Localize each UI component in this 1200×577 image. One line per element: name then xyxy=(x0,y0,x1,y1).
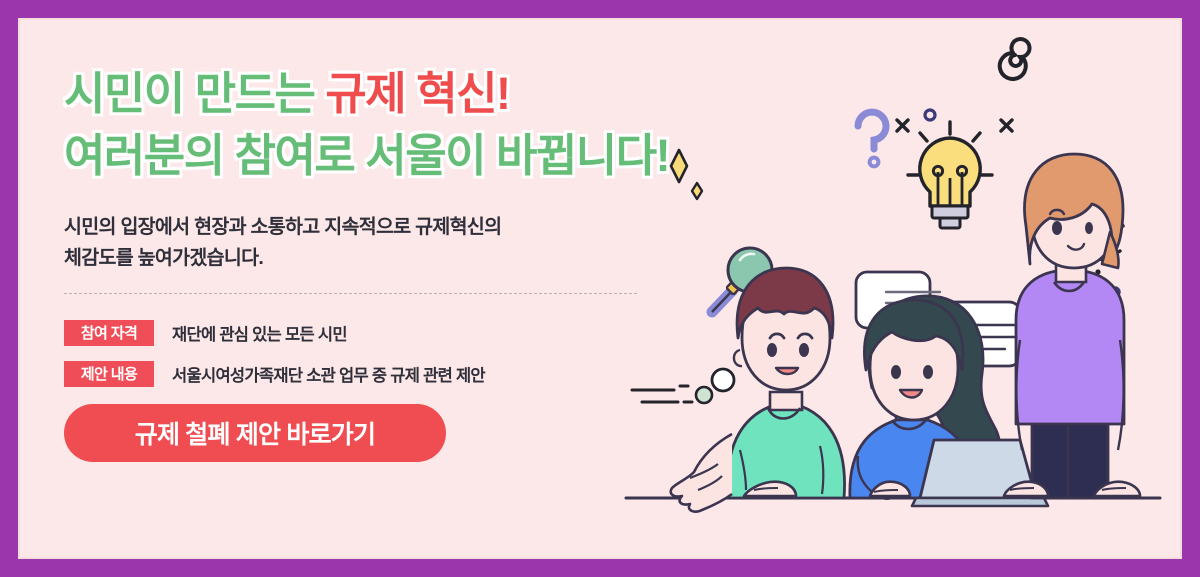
x-spark-icon xyxy=(897,120,1012,131)
subtext-line-2: 체감도를 높여가겠습니다. xyxy=(64,243,684,275)
dashed-divider xyxy=(64,293,637,294)
info-rows: 참여 자격 재단에 관심 있는 모든 시민 제안 내용 서울시여성가족재단 소관… xyxy=(64,320,684,387)
info-row: 제안 내용 서울시여성가족재단 소관 업무 중 규제 관련 제안 xyxy=(64,361,684,387)
subtext-line-1: 시민의 입장에서 현장과 소통하고 지속적으로 규제혁신의 xyxy=(64,212,684,244)
info-row: 참여 자격 재단에 관심 있는 모든 시민 xyxy=(64,320,684,346)
spiral-icon xyxy=(1000,39,1030,79)
headline-line-1-red: 규제 혁신! xyxy=(325,68,509,119)
info-text-qualification: 재단에 관심 있는 모든 시민 xyxy=(172,321,347,345)
banner-inner-frame: .ln{fill:none;stroke:#3b3550;stroke-widt… xyxy=(18,18,1182,559)
info-badge-qualification: 참여 자격 xyxy=(64,320,154,346)
info-text-proposal: 서울시여성가족재단 소관 업무 중 규제 관련 제안 xyxy=(172,362,485,386)
headline-line-2: 여러분의 참여로 서울이 바뀝니다! xyxy=(64,126,684,186)
subtext-block: 시민의 입장에서 현장과 소통하고 지속적으로 규제혁신의 체감도를 높여가겠습… xyxy=(64,212,684,275)
promo-banner: .ln{fill:none;stroke:#3b3550;stroke-widt… xyxy=(0,0,1200,577)
question-mark-icon xyxy=(858,112,886,166)
headline-line-1: 시민이 만드는 규제 혁신! xyxy=(64,64,684,124)
banner-content: 시민이 만드는 규제 혁신! 여러분의 참여로 서울이 바뀝니다! 시민의 입장… xyxy=(64,50,684,462)
dot-ring-icon xyxy=(925,110,935,120)
info-badge-proposal: 제안 내용 xyxy=(64,361,154,387)
proposal-cta-button[interactable]: 규제 철폐 제안 바로가기 xyxy=(64,404,446,462)
headline-line-1-green: 시민이 만드는 xyxy=(64,68,325,119)
character-woman-purple xyxy=(1004,154,1140,498)
illustration-artwork: .ln{fill:none;stroke:#3b3550;stroke-widt… xyxy=(620,20,1180,559)
lightbulb-icon xyxy=(908,122,992,228)
headline-block: 시민이 만드는 규제 혁신! 여러분의 참여로 서울이 바뀝니다! xyxy=(64,64,684,186)
